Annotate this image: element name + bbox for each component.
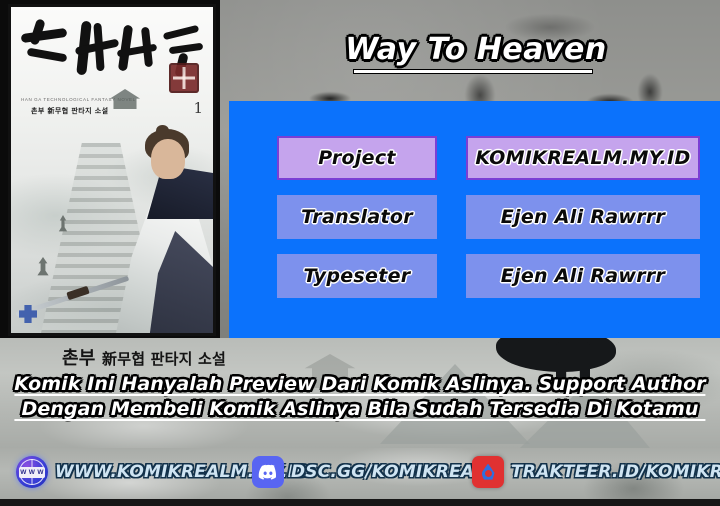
- credits-row-typesetter: Typeseter Ejen Ali Rawrrr: [229, 253, 720, 299]
- credits-label-translator: Translator: [277, 195, 437, 239]
- banner-region: 1 HAN GA TECHNOLOGICAL FANTASY NOVEL 촌부 …: [0, 0, 720, 340]
- page-title-underline: [354, 70, 592, 73]
- cover-seal-stamp: [169, 63, 199, 93]
- credits-panel: Project KOMIKREALM.MY.ID Translator Ejen…: [229, 101, 720, 338]
- notice-korean-bold: 촌부: [62, 348, 96, 369]
- footer-link-trakteer-label: TRAKTEER.ID/KOMIKREALM: [511, 462, 720, 482]
- globe-icon-label: W W W: [19, 467, 45, 478]
- cover-korean-subtitle: 촌부 新무협 판타지 소설: [31, 106, 108, 116]
- notice-korean-rest: 新무협 판타지 소설: [102, 350, 226, 368]
- footer-link-trakteer[interactable]: TRAKTEER.ID/KOMIKREALM: [472, 456, 720, 488]
- trakteer-icon: [472, 456, 504, 488]
- discord-icon: [252, 456, 284, 488]
- footer-link-discord-label: DSC.GG/KOMIKREALM: [291, 462, 502, 482]
- cover-volume-number: 1: [193, 99, 203, 117]
- credits-value-project: KOMIKREALM.MY.ID: [466, 136, 700, 180]
- page-title: Way To Heaven: [236, 24, 716, 76]
- footer-link-discord[interactable]: DSC.GG/KOMIKREALM: [252, 456, 502, 488]
- globe-icon: W W W: [16, 456, 48, 488]
- book-cover-image: 1 HAN GA TECHNOLOGICAL FANTASY NOVEL 촌부 …: [8, 4, 216, 336]
- notice-korean-line: 촌부 新무협 판타지 소설: [62, 344, 226, 370]
- trakteer-droplet: [482, 464, 495, 481]
- credits-value-typesetter: Ejen Ali Rawrrr: [466, 254, 700, 298]
- footer-bottom-bar: [0, 499, 720, 506]
- credits-label-typesetter: Typeseter: [277, 254, 437, 298]
- credits-row-translator: Translator Ejen Ali Rawrrr: [229, 194, 720, 240]
- credits-row-project: Project KOMIKREALM.MY.ID: [229, 135, 720, 181]
- credits-label-project: Project: [277, 136, 437, 180]
- credits-banner: 1 HAN GA TECHNOLOGICAL FANTASY NOVEL 촌부 …: [0, 0, 720, 506]
- cover-swordsman-figure: [101, 125, 216, 336]
- preview-disclaimer: Komik Ini Hanyalah Preview Dari Komik As…: [0, 372, 720, 422]
- footer-region: W W W WWW.KOMIKREALM.MY.ID DSC.GG/KOMIKR…: [0, 448, 720, 506]
- preview-disclaimer-line-1: Komik Ini Hanyalah Preview Dari Komik As…: [0, 372, 720, 397]
- preview-disclaimer-line-2: Dengan Membeli Komik Aslinya Bila Sudah …: [0, 397, 720, 422]
- credits-value-translator: Ejen Ali Rawrrr: [466, 195, 700, 239]
